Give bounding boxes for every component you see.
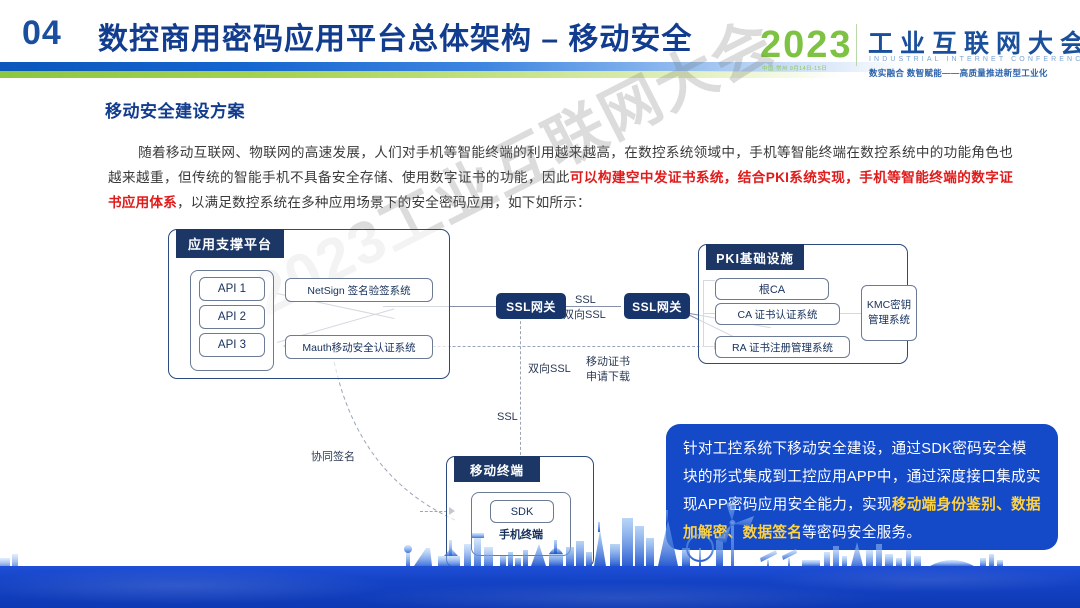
logo-main-title: 工业互联网大会 bbox=[868, 24, 1080, 60]
section-title: 移动安全建设方案 bbox=[105, 97, 245, 122]
skyline-far-left bbox=[0, 554, 18, 566]
logo-divider bbox=[856, 24, 857, 66]
skyline-right-cluster bbox=[760, 542, 1003, 566]
slide-root: 04 数控商用密码应用平台总体架构 – 移动安全 2023 中国·常州 9月14… bbox=[0, 0, 1080, 608]
mauth-label: Mauth移动安全认证系统 bbox=[302, 340, 415, 355]
kmc-label-line2: 管理系统 bbox=[868, 313, 910, 328]
api-2-label: API 2 bbox=[218, 311, 246, 323]
pki-node-ca: CA 证书认证系统 bbox=[715, 303, 840, 325]
mobile-terminal-header-label: 移动终端 bbox=[470, 460, 524, 479]
netsign-label: NetSign 签名验签系统 bbox=[307, 283, 410, 298]
pki-node-ra: RA 证书注册管理系统 bbox=[715, 336, 850, 358]
body-paragraph: 随着移动互联网、物联网的高速发展，人们对手机等智能终端的利用越来越高，在数控系统… bbox=[108, 140, 1013, 215]
api-3-label: API 3 bbox=[218, 339, 246, 351]
api-box-1: API 1 bbox=[199, 277, 265, 301]
label-ssl-vertical: SSL bbox=[497, 410, 518, 425]
label-cert-apply: 移动证书 申请下载 bbox=[586, 355, 630, 385]
skyline-left-cluster bbox=[404, 533, 493, 566]
label-mutual-ssl-mid: 双向SSL bbox=[528, 362, 571, 377]
slide-header: 04 数控商用密码应用平台总体架构 – 移动安全 2023 中国·常州 9月14… bbox=[0, 0, 1080, 88]
ssl-gateway-left: SSL网关 bbox=[496, 293, 566, 319]
api-1-label: API 1 bbox=[218, 283, 246, 295]
kmc-box: KMC密钥 管理系统 bbox=[861, 285, 917, 341]
logo-tagline: 数实融合 数智赋能——高质量推进新型工业化 bbox=[869, 67, 1048, 79]
label-co-sign: 协同签名 bbox=[311, 450, 355, 465]
section-number: 04 bbox=[22, 14, 62, 53]
ssl-gateway-left-label: SSL网关 bbox=[506, 298, 556, 315]
footer-skyline bbox=[0, 500, 1080, 608]
logo-year: 2023 bbox=[760, 24, 853, 67]
logo-year-subtitle: 中国·常州 9月14日-15日 bbox=[762, 64, 827, 72]
mauth-service-box: Mauth移动安全认证系统 bbox=[285, 335, 433, 359]
sea-sheen bbox=[0, 566, 1080, 608]
pki-panel-header: PKI基础设施 bbox=[706, 244, 804, 270]
logo-english-title: INDUSTRIAL INTERNET CONFERENCE bbox=[869, 56, 1080, 63]
page-title: 数控商用密码应用平台总体架构 – 移动安全 bbox=[98, 14, 692, 58]
skyline-mid-city bbox=[500, 510, 723, 566]
kmc-label-line1: KMC密钥 bbox=[867, 298, 911, 313]
ssl-gateway-right-label: SSL网关 bbox=[632, 298, 682, 315]
api-box-2: API 2 bbox=[199, 305, 265, 329]
paragraph-part2: ，以满足数控系统在多种应用场景下的安全密码应用，如下如所示： bbox=[177, 195, 591, 210]
pki-header-label: PKI基础设施 bbox=[716, 248, 794, 267]
app-platform-header-label: 应用支撑平台 bbox=[188, 234, 272, 253]
label-ssl-top: SSL bbox=[575, 293, 596, 308]
cert-apply-line2: 申请下载 bbox=[586, 370, 630, 385]
label-mutual-ssl-top: 双向SSL bbox=[563, 308, 606, 323]
app-platform-header: 应用支撑平台 bbox=[176, 229, 284, 258]
conference-logo: 2023 中国·常州 9月14日-15日 工业互联网大会 INDUSTRIAL … bbox=[760, 18, 1072, 80]
cert-apply-line1: 移动证书 bbox=[586, 355, 630, 370]
mobile-terminal-header: 移动终端 bbox=[454, 456, 540, 482]
ssl-gateway-right: SSL网关 bbox=[624, 293, 690, 319]
pki-node-root-ca: 根CA bbox=[715, 278, 829, 300]
netsign-service-box: NetSign 签名验签系统 bbox=[285, 278, 433, 302]
api-box-3: API 3 bbox=[199, 333, 265, 357]
ra-label: RA 证书注册管理系统 bbox=[732, 340, 833, 355]
ca-label: CA 证书认证系统 bbox=[738, 307, 818, 322]
root-ca-label: 根CA bbox=[759, 281, 785, 297]
